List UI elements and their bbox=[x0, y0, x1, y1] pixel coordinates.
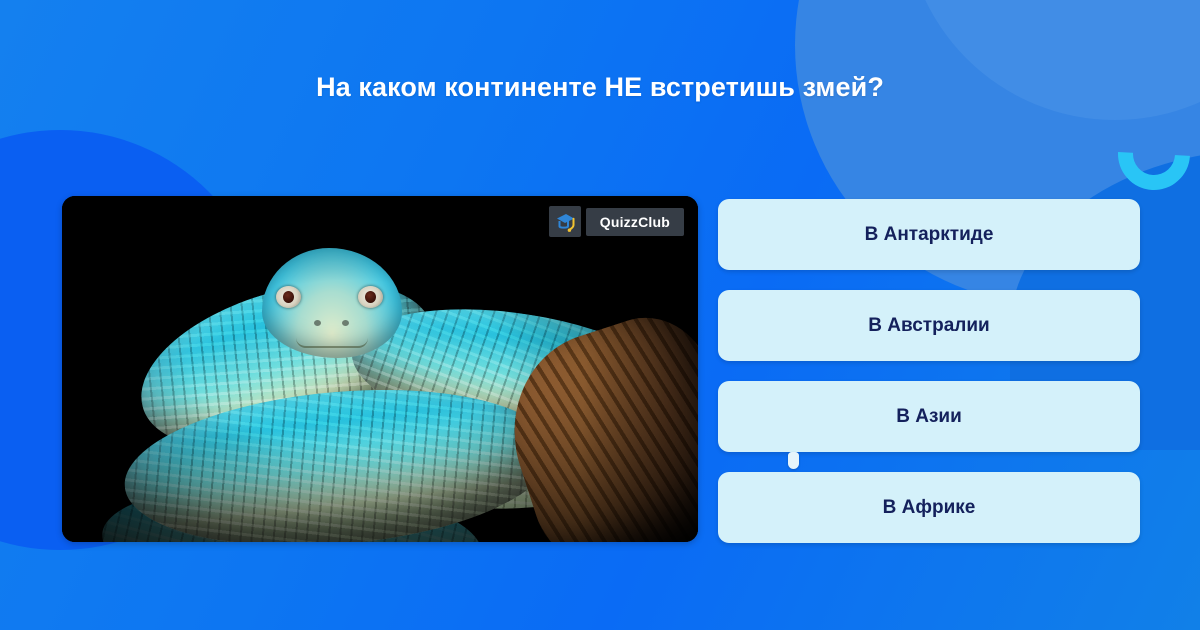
answer-option-2[interactable]: В Австралии bbox=[718, 290, 1140, 361]
snake-nostril-left bbox=[314, 320, 321, 326]
answer-option-1[interactable]: В Антарктиде bbox=[718, 199, 1140, 270]
answer-list: В Антарктиде В Австралии В Азии В Африке bbox=[718, 199, 1140, 543]
answer-option-3[interactable]: В Азии bbox=[718, 381, 1140, 452]
graduation-cap-icon bbox=[549, 206, 581, 237]
question-title: На каком континенте НЕ встретишь змей? bbox=[0, 72, 1200, 103]
answer-option-4-label: В Африке bbox=[883, 497, 976, 519]
snake-nostril-right bbox=[342, 320, 349, 326]
snake-eye-right bbox=[358, 286, 383, 308]
watermark: QuizzClub bbox=[549, 206, 684, 237]
answer-option-3-label: В Азии bbox=[896, 406, 962, 428]
snake-eye-left bbox=[276, 286, 301, 308]
answer-option-2-label: В Австралии bbox=[868, 315, 989, 337]
snake-photo bbox=[62, 196, 698, 542]
answer-list-notch bbox=[788, 452, 799, 469]
question-image-card: QuizzClub bbox=[62, 196, 698, 542]
answer-option-1-label: В Антарктиде bbox=[865, 224, 994, 246]
answer-option-4[interactable]: В Африке bbox=[718, 472, 1140, 543]
snake-head bbox=[262, 248, 402, 358]
snake-mouth bbox=[296, 338, 368, 348]
watermark-label: QuizzClub bbox=[586, 208, 684, 236]
